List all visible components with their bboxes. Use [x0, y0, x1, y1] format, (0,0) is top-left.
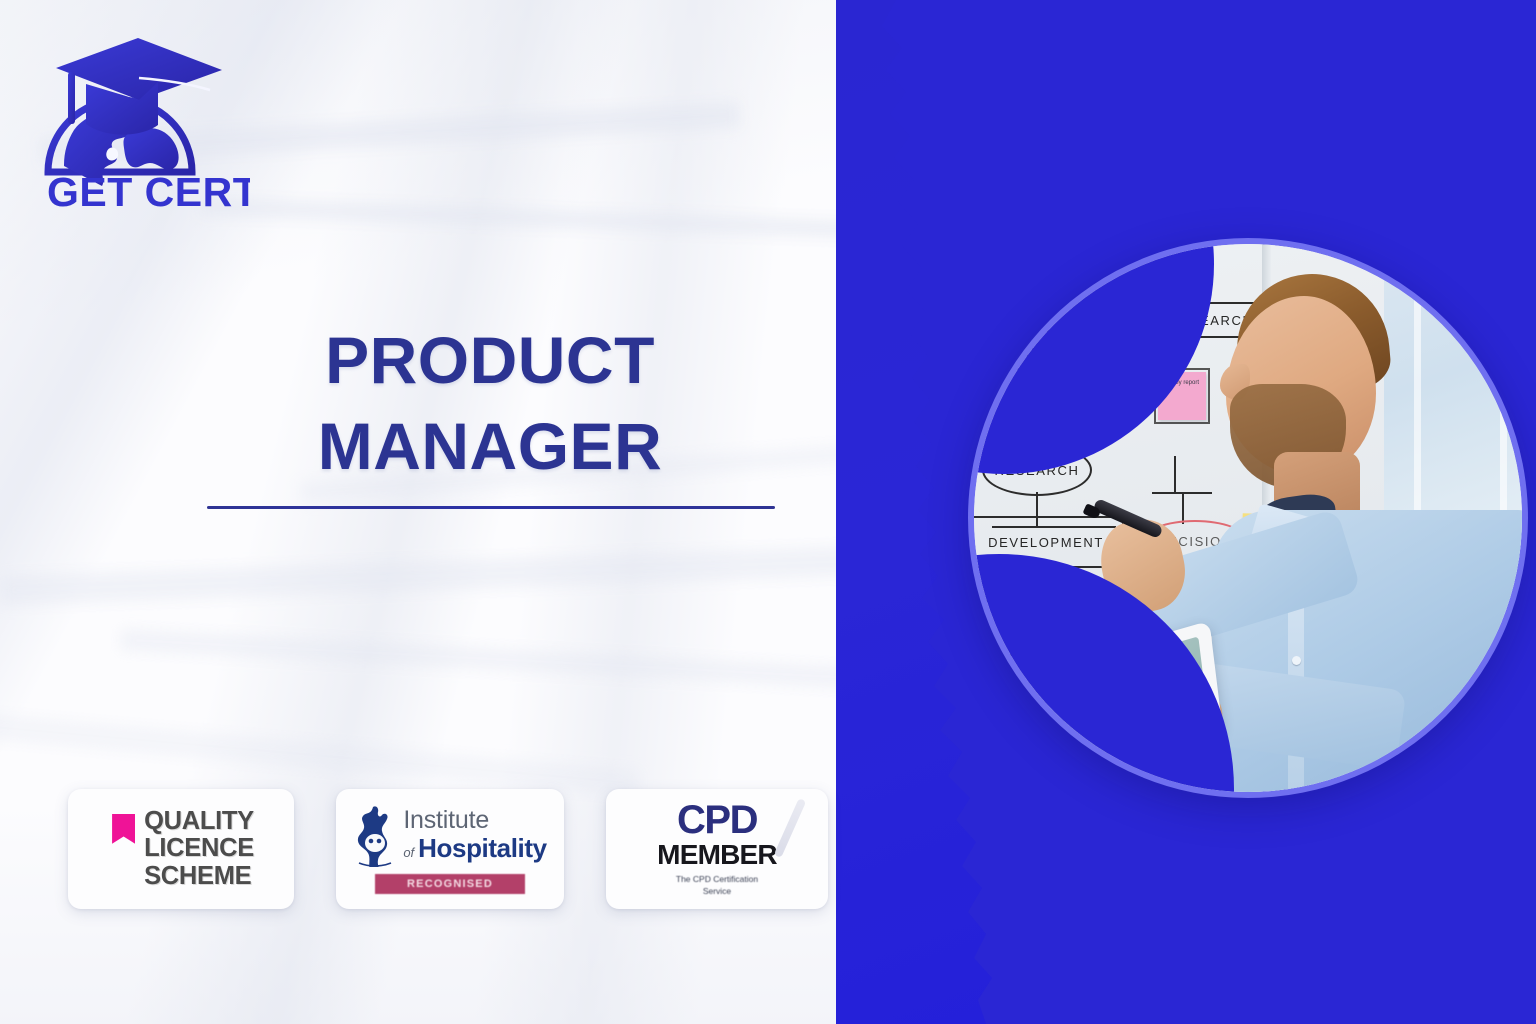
brand-logo[interactable]: GET CERTIFY — [40, 26, 250, 211]
graduation-cap-globe-icon: GET CERTIFY — [40, 26, 250, 211]
cpd-title: CPD — [677, 801, 757, 839]
title-line-1: PRODUCT — [0, 318, 980, 404]
swoosh-decoration — [774, 798, 807, 858]
qls-line-3: SCHEME — [144, 863, 254, 891]
hospitality-figures-icon — [353, 805, 396, 867]
hero-photo: TOP RESEARCH IDEA RESEARCH DEVELOPMENT P… — [974, 244, 1522, 792]
ioh-recognised-band: RECOGNISED — [375, 874, 525, 894]
cpd-fine-line-1: The CPD Certification — [676, 874, 758, 885]
cpd-subtitle: MEMBER — [657, 840, 777, 869]
badge-quality-licence-scheme[interactable]: QUALITY LICENCE SCHEME — [68, 789, 294, 909]
poster-canvas: GET CERTIFY PRODUCT MANAGER QUALITY LICE… — [0, 0, 1536, 1024]
title-line-2: MANAGER — [0, 404, 980, 490]
connector — [1174, 456, 1176, 492]
svg-text:GET CERTIFY: GET CERTIFY — [47, 169, 250, 211]
hero-photo-ring: TOP RESEARCH IDEA RESEARCH DEVELOPMENT P… — [968, 238, 1528, 798]
qls-line-2: LICENCE — [144, 835, 254, 863]
ioh-line-2: Hospitality — [418, 833, 547, 864]
bookmark-flag-icon — [112, 814, 135, 844]
badge-cpd-member[interactable]: CPD MEMBER The CPD Certification Service — [606, 789, 828, 909]
qls-line-1: QUALITY — [144, 808, 254, 836]
shirt-button — [1292, 656, 1301, 665]
accreditation-badges: QUALITY LICENCE SCHEME — [68, 789, 828, 909]
title-underline — [207, 506, 775, 509]
ioh-line-1: Institute — [403, 806, 489, 834]
page-title: PRODUCT MANAGER — [0, 318, 980, 490]
ioh-small-word: of — [403, 845, 414, 860]
cpd-fine-line-2: Service — [676, 886, 758, 897]
badge-institute-of-hospitality[interactable]: Institute of Hospitality RECOGNISED — [336, 789, 564, 909]
